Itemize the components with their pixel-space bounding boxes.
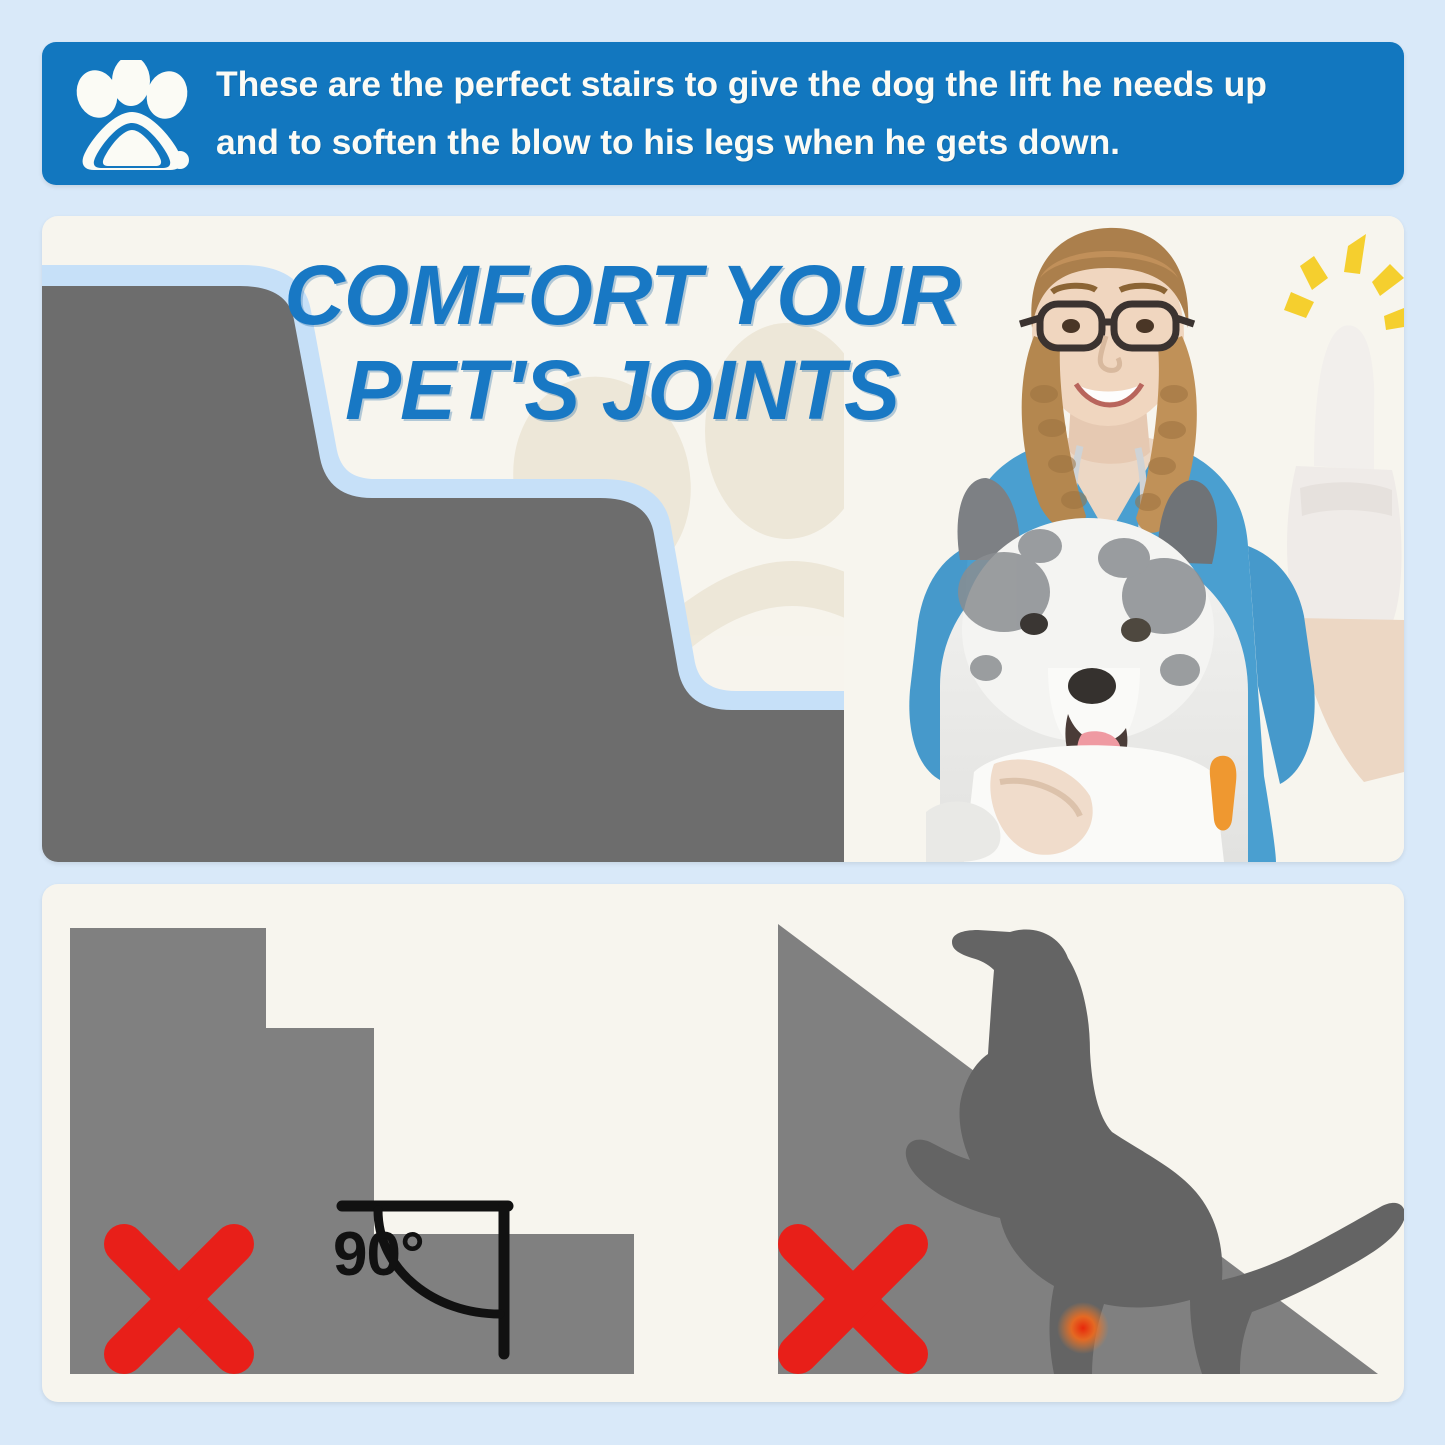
banner-text: These are the perfect stairs to give the… (216, 56, 1267, 172)
hero-panel: COMFORT YOUR PET'S JOINTS (42, 216, 1404, 862)
page-title: COMFORT YOUR PET'S JOINTS (242, 248, 1002, 438)
joint-pain-marker (1057, 1302, 1109, 1354)
angle-label: 90° (333, 1219, 424, 1290)
info-banner: These are the perfect stairs to give the… (42, 42, 1404, 185)
paw-icon (70, 60, 194, 172)
steep-ramp-with-dog-illustration (42, 884, 1404, 1402)
bad-examples-panel: steep-stairs-illustration steep-ramp-wit… (42, 884, 1404, 1402)
border-collie-photo (926, 478, 1248, 862)
poster-root: These are the perfect stairs to give the… (0, 0, 1445, 1445)
